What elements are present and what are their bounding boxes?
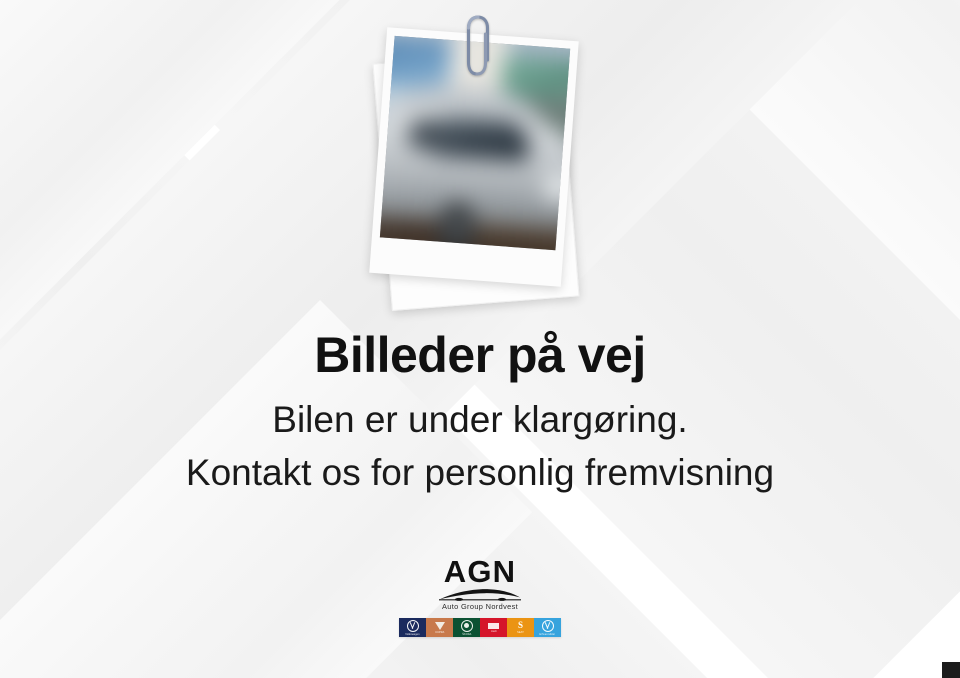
brand-tile-volkswagen[interactable]: Volkswagen [399,618,426,637]
dealer-logo: AGN Auto Group Nordvest [0,556,960,611]
brand-tile-seat[interactable]: S SEAT [507,618,534,637]
photo-scene-car-headlight [543,173,571,203]
headline: Billeder på vej [0,330,960,380]
background-corner-accent [942,662,960,678]
logo-tagline: Auto Group Nordvest [442,602,518,611]
subline-secondary: Kontakt os for personlig fremvisning [0,452,960,493]
photo-scene-car-window-rear [407,118,440,150]
photo-stack [358,22,608,322]
paperclip-icon [466,14,500,92]
brand-label: SEAT [517,631,524,634]
brand-strip: Volkswagen CUPRA ŠKODA Audi S SEAT Erhve… [0,618,960,637]
brand-tile-skoda[interactable]: ŠKODA [453,618,480,637]
brand-label: Erhvervsbiler [540,633,556,636]
image-placeholder-card: Billeder på vej Bilen er under klargørin… [0,0,960,678]
skoda-logo-icon [461,620,473,632]
vw-commercial-logo-icon [542,620,554,632]
brand-label: Volkswagen [405,633,419,636]
vw-logo-icon [407,620,419,632]
brand-tile-cupra[interactable]: CUPRA [426,618,453,637]
brand-tile-audi[interactable]: Audi [480,618,507,637]
car-silhouette-icon [437,588,523,601]
cupra-logo-icon [435,622,445,630]
seat-logo-icon: S [518,621,523,630]
brand-label: ŠKODA [462,633,471,636]
brand-label: Audi [491,630,496,633]
brand-label: CUPRA [435,631,444,634]
logo-wordmark: AGN [444,556,517,587]
subline-primary: Bilen er under klargøring. [0,399,960,440]
brand-tile-vw-commercial[interactable]: Erhvervsbiler [534,618,561,637]
audi-logo-icon [488,623,499,629]
